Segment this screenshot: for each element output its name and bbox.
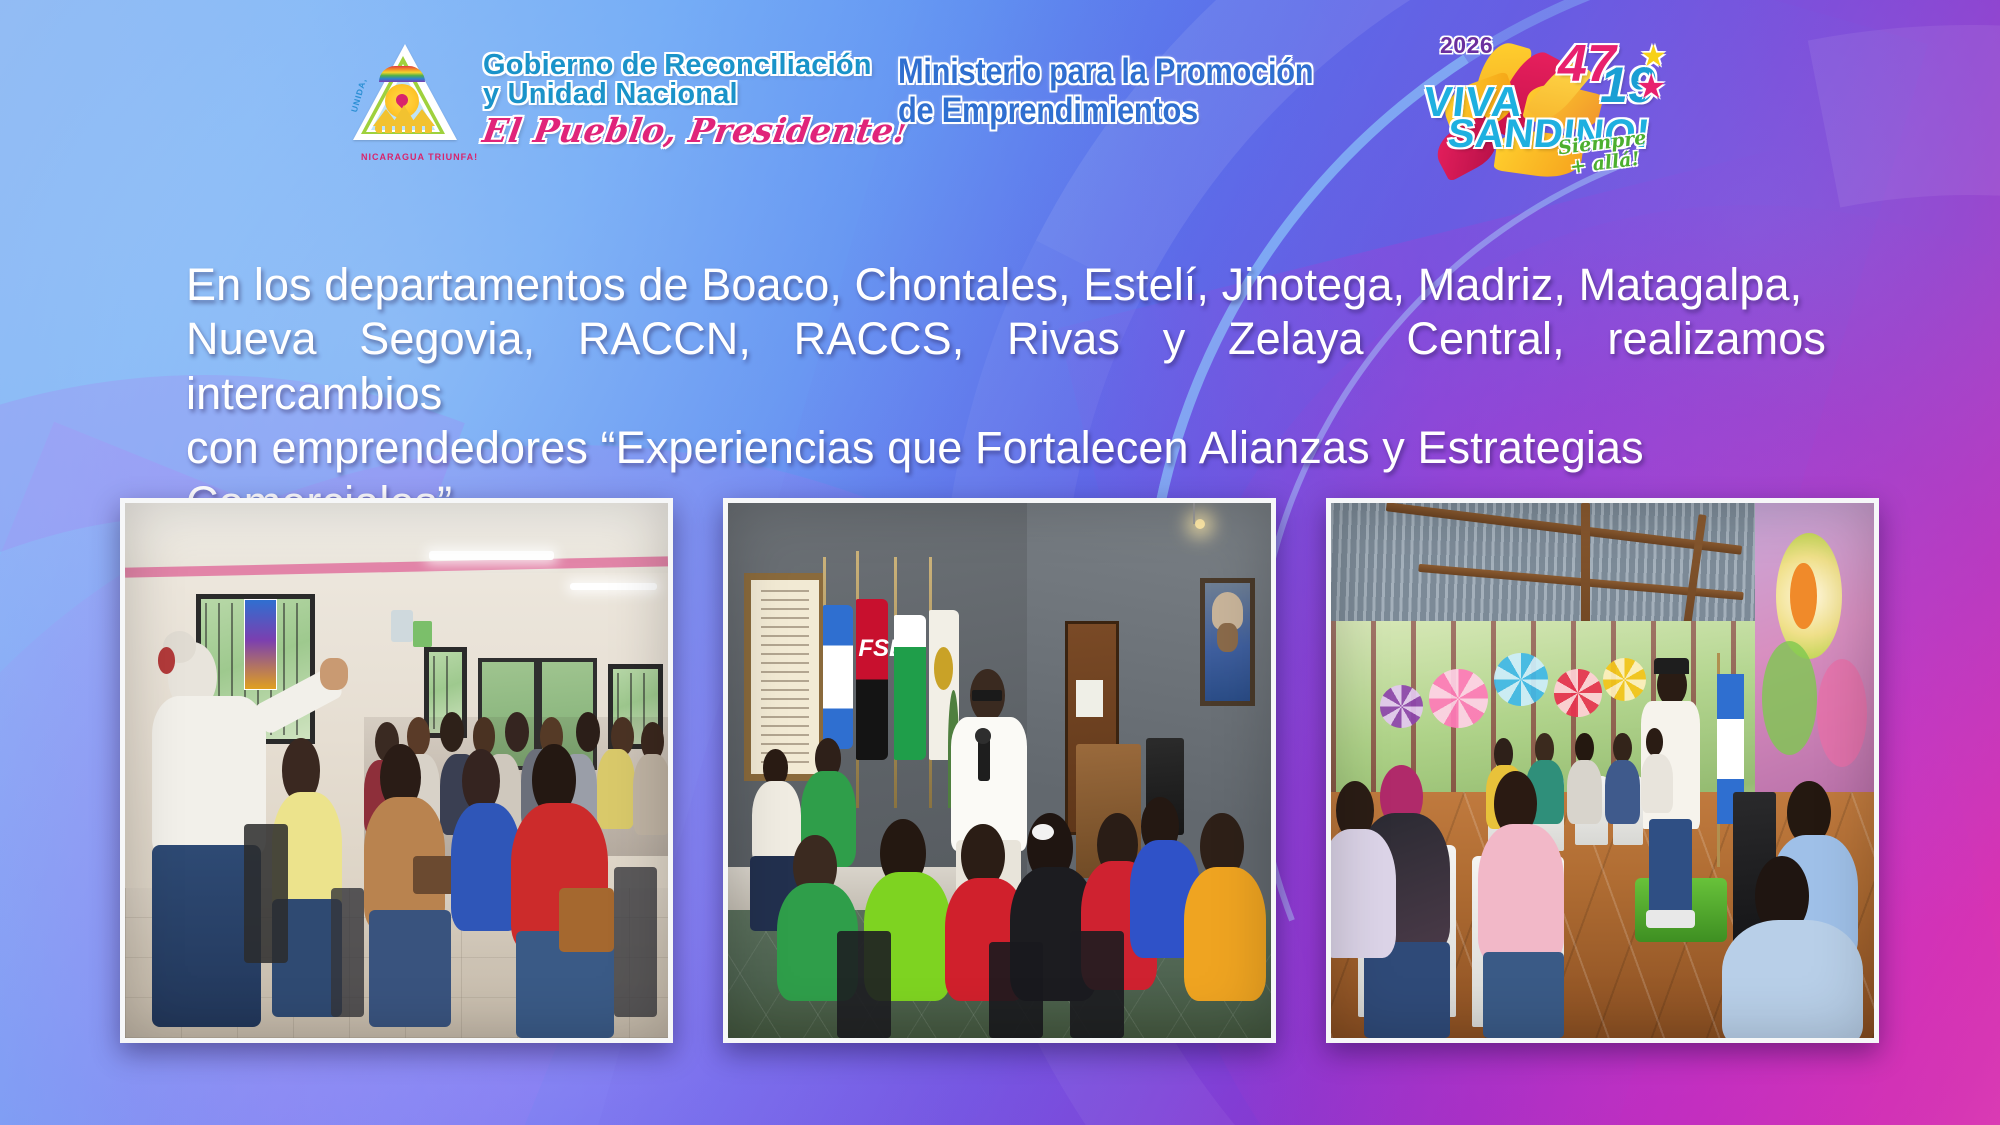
headline-line-1: En los departamentos de Boaco, Chontales…	[186, 258, 1826, 312]
ministry-title-line-2: de Emprendimientos	[898, 91, 1313, 130]
grun-title-line-2: y Unidad Nacional	[483, 80, 909, 110]
rainbow-icon	[379, 66, 425, 82]
poster-canvas: UNIDA, NICARAGUA TRIUNFA! Gobierno de Re…	[0, 0, 2000, 1125]
ministry-title-line-1: Ministerio para la Promoción	[898, 52, 1313, 91]
star-magenta-icon: ★	[1636, 70, 1666, 104]
poster-header: UNIDA, NICARAGUA TRIUNFA! Gobierno de Re…	[0, 0, 2000, 200]
grun-lockup: UNIDA, NICARAGUA TRIUNFA! Gobierno de Re…	[345, 38, 909, 160]
photo-3[interactable]	[1326, 498, 1879, 1043]
sandino-year: 2026	[1440, 32, 1493, 59]
headline-line-3: con emprendedores “Experiencias que Fort…	[186, 421, 1826, 475]
photo-gallery: FSLN	[120, 498, 1880, 1043]
grun-slogan: El Pueblo, Presidente!	[480, 114, 911, 148]
emblem-ribbon-bottom: NICARAGUA TRIUNFA!	[361, 152, 478, 162]
photo-2[interactable]: FSLN	[723, 498, 1276, 1043]
grun-title-line-1: Gobierno de Reconciliación	[483, 51, 909, 81]
water-icon	[375, 124, 433, 133]
ministry-title: Ministerio para la Promoción de Emprendi…	[898, 52, 1370, 130]
photo-1-scene	[125, 503, 668, 1038]
nicaragua-national-emblem-icon: UNIDA, NICARAGUA TRIUNFA!	[345, 38, 469, 160]
photo-3-scene	[1331, 503, 1874, 1038]
headline-line-2: Nueva Segovia, RACCN, RACCS, Rivas y Zel…	[186, 312, 1826, 421]
viva-sandino-badge: 2026 VIVA SANDINO! 47 19 ★ ★ Siempre + a…	[1418, 26, 1668, 174]
headline-text: En los departamentos de Boaco, Chontales…	[186, 258, 1826, 530]
grun-wordmark: Gobierno de Reconciliación y Unidad Naci…	[483, 51, 909, 148]
photo-2-scene: FSLN	[728, 503, 1271, 1038]
photo-1[interactable]	[120, 498, 673, 1043]
